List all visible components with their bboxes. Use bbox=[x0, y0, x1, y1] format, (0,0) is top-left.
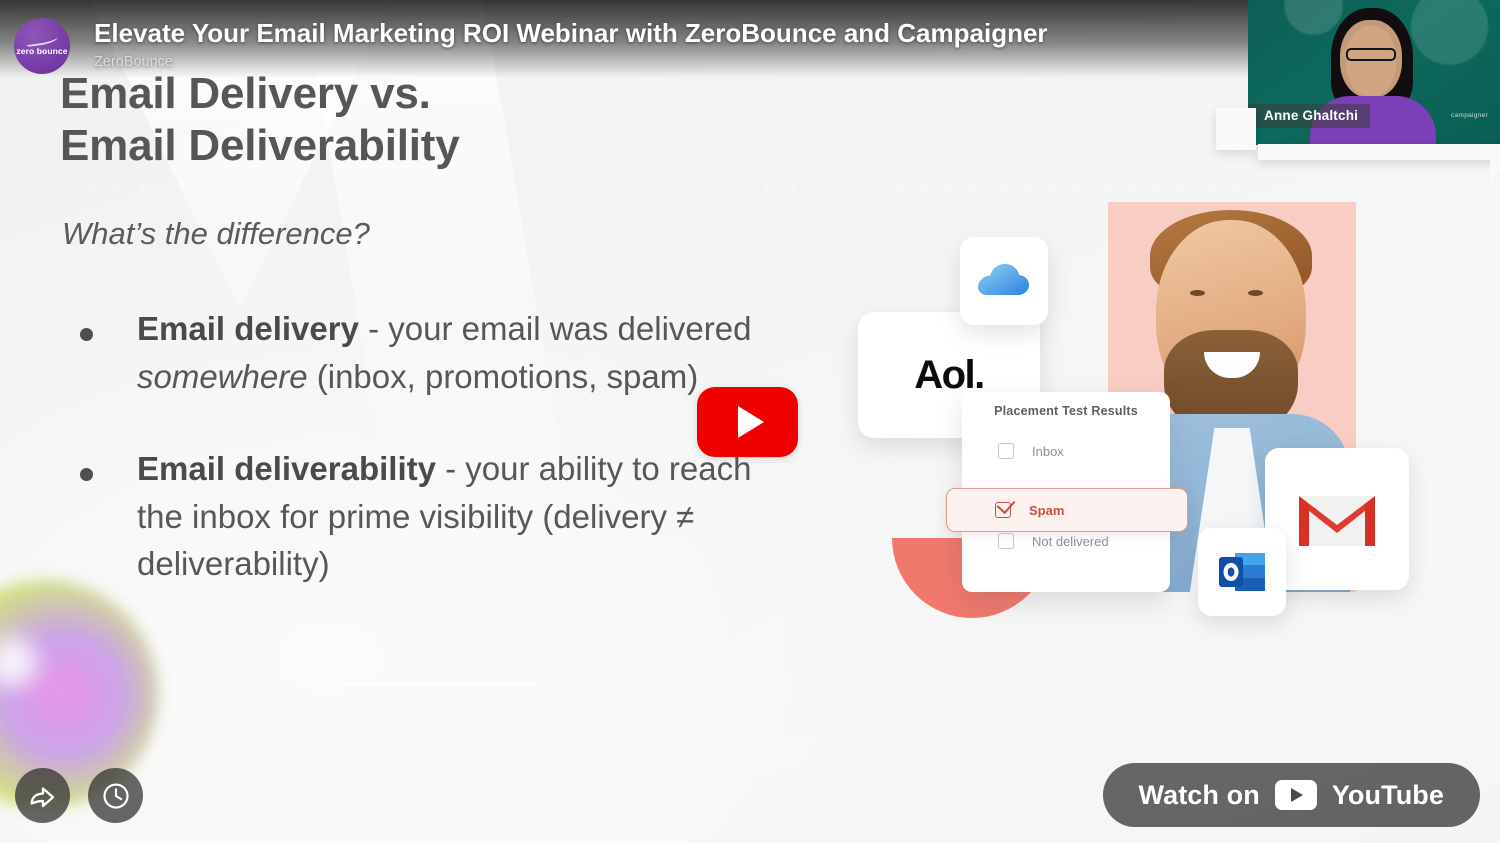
bullet-body-after: (inbox, promotions, spam) bbox=[308, 358, 699, 395]
aol-label: Aol. bbox=[914, 353, 984, 398]
gmail-icon bbox=[1265, 448, 1409, 590]
placement-test-results-card: Placement Test Results Inbox Not deliver… bbox=[962, 392, 1170, 592]
share-button[interactable] bbox=[15, 768, 70, 823]
placement-row-inbox[interactable]: Inbox bbox=[962, 428, 1170, 474]
glasses-icon bbox=[1346, 48, 1396, 61]
play-triangle-icon bbox=[1291, 788, 1303, 802]
bullet-dot-icon bbox=[80, 468, 93, 481]
speaker-nameplate: Anne Ghaltchi bbox=[1248, 104, 1370, 128]
bullet-lead: Email delivery bbox=[137, 310, 359, 347]
bullet-lead: Email deliverability bbox=[137, 450, 436, 487]
youtube-brand-label: YouTube bbox=[1332, 780, 1444, 811]
list-item: Email delivery - your email was delivere… bbox=[62, 305, 802, 401]
checkbox-unchecked-icon[interactable] bbox=[998, 443, 1014, 459]
channel-name[interactable]: ZeroBounce bbox=[94, 54, 1048, 70]
avatar-label: zero bounce bbox=[14, 46, 70, 56]
webcam-person-face bbox=[1346, 26, 1396, 96]
webcam-speech-bubble-tail bbox=[1258, 144, 1500, 160]
decorative-line bbox=[340, 683, 536, 686]
bullet-text: Email deliverability - your ability to r… bbox=[137, 445, 802, 589]
placement-card-title: Placement Test Results bbox=[962, 404, 1170, 428]
list-item: Email deliverability - your ability to r… bbox=[62, 445, 802, 589]
placement-row-spam[interactable]: Spam bbox=[946, 488, 1188, 532]
bullet-dash: - bbox=[359, 310, 388, 347]
play-button[interactable] bbox=[697, 387, 798, 457]
webcam-brand-watermark: campaigner bbox=[1451, 112, 1488, 119]
bullet-text: Email delivery - your email was delivere… bbox=[137, 305, 802, 401]
checkbox-checked-icon[interactable] bbox=[995, 502, 1011, 518]
youtube-video-player[interactable]: Email Delivery vs. Email Deliverability … bbox=[0, 0, 1500, 843]
clock-icon bbox=[101, 781, 131, 811]
share-arrow-icon bbox=[28, 781, 58, 811]
bullet-body-before: your email was delivered bbox=[388, 310, 751, 347]
slide-illustration: Aol. bbox=[840, 190, 1460, 640]
header-text-block: Elevate Your Email Marketing ROI Webinar… bbox=[94, 18, 1048, 70]
webcam-frame-left bbox=[1216, 108, 1256, 150]
slide-subtitle: What’s the difference? bbox=[62, 216, 370, 252]
speaker-webcam-overlay: Anne Ghaltchi campaigner bbox=[1248, 0, 1500, 145]
watch-later-button[interactable] bbox=[88, 768, 143, 823]
play-triangle-icon bbox=[738, 406, 764, 438]
outlook-icon bbox=[1198, 528, 1286, 616]
icloud-icon bbox=[960, 237, 1048, 325]
bullet-dash: - bbox=[436, 450, 465, 487]
youtube-play-badge-icon bbox=[1275, 780, 1317, 810]
checkbox-unchecked-icon[interactable] bbox=[998, 533, 1014, 549]
bullet-dot-icon bbox=[80, 328, 93, 341]
placement-row-label: Spam bbox=[1029, 503, 1064, 518]
watch-on-youtube-button[interactable]: Watch on YouTube bbox=[1103, 763, 1480, 827]
photo-eye-left bbox=[1190, 290, 1205, 296]
video-title[interactable]: Elevate Your Email Marketing ROI Webinar… bbox=[94, 18, 1048, 50]
channel-avatar[interactable]: zero bounce bbox=[14, 18, 70, 74]
placement-row-label: Inbox bbox=[1032, 444, 1064, 459]
slide-bullet-list: Email delivery - your email was delivere… bbox=[62, 305, 802, 632]
placement-row-label: Not delivered bbox=[1032, 534, 1109, 549]
slide-title: Email Delivery vs. Email Deliverability bbox=[60, 68, 460, 172]
photo-eye-right bbox=[1248, 290, 1263, 296]
watch-on-prefix-label: Watch on bbox=[1139, 780, 1260, 811]
bullet-emphasis: somewhere bbox=[137, 358, 308, 395]
webcam-video-feed: Anne Ghaltchi campaigner bbox=[1248, 0, 1500, 145]
